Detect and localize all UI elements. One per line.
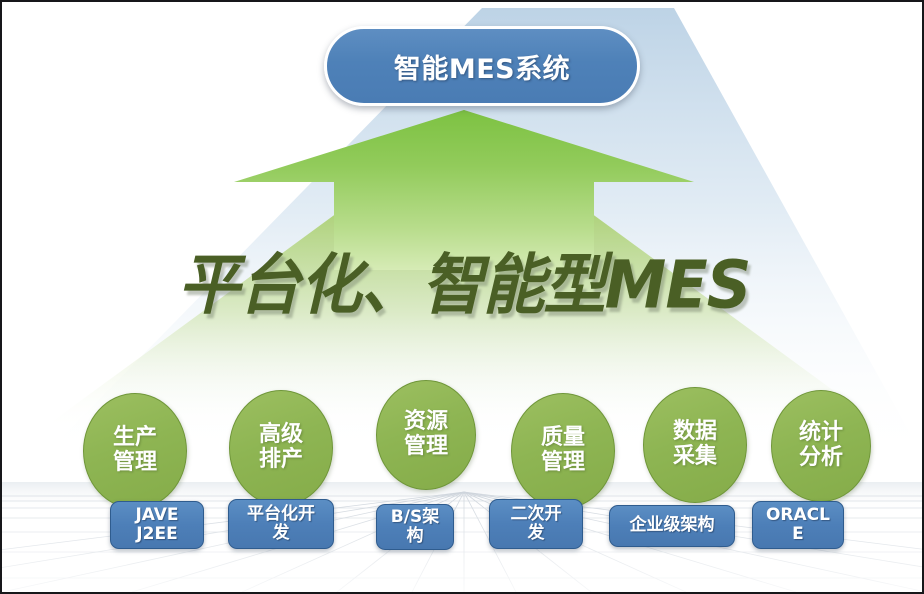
module-circle-label: 高级 排产 (259, 423, 303, 472)
module-circle-label: 生产 管理 (113, 426, 157, 475)
module-circle-production-management[interactable]: 生产 管理 (83, 393, 187, 509)
mes-architecture-slide: 平台化、智能型MES 智能MES系统 生产 管理 高级 排产 资源 管理 质量 … (0, 0, 924, 594)
tech-tag-quality-management[interactable]: 二次开 发 (489, 499, 583, 549)
tech-tag-label: B/S架 构 (387, 508, 443, 546)
tech-tag-advanced-scheduling[interactable]: 平台化开 发 (228, 499, 334, 549)
module-circle-advanced-scheduling[interactable]: 高级 排产 (229, 390, 333, 506)
tech-tag-label: 企业级架构 (626, 516, 719, 535)
module-circle-resource-management[interactable]: 资源 管理 (376, 380, 476, 490)
tech-tag-label: 平台化开 发 (243, 505, 319, 543)
system-title-text: 智能MES系统 (394, 47, 570, 86)
module-circle-label: 数据 采集 (673, 420, 717, 469)
headline-text: 平台化、智能型MES (178, 231, 751, 326)
module-circle-quality-management[interactable]: 质量 管理 (511, 393, 615, 509)
tech-tag-data-acquisition[interactable]: 企业级架构 (609, 505, 735, 547)
tech-tag-label: ORACL E (762, 506, 834, 544)
page-title: 平台化、智能型MES (2, 234, 924, 324)
tech-tag-production-management[interactable]: JAVE J2EE (110, 501, 204, 549)
module-circle-label: 统计 分析 (799, 421, 843, 470)
module-circle-label: 质量 管理 (541, 426, 585, 475)
module-circle-statistical-analysis[interactable]: 统计 分析 (771, 390, 871, 502)
tech-tag-label: 二次开 发 (507, 505, 566, 543)
module-circle-data-acquisition[interactable]: 数据 采集 (643, 387, 747, 503)
tech-tag-resource-management[interactable]: B/S架 构 (376, 504, 454, 550)
tech-tag-statistical-analysis[interactable]: ORACL E (752, 501, 844, 549)
tech-tag-label: JAVE J2EE (131, 506, 182, 544)
module-circle-label: 资源 管理 (404, 410, 448, 459)
system-title-badge[interactable]: 智能MES系统 (324, 26, 640, 106)
